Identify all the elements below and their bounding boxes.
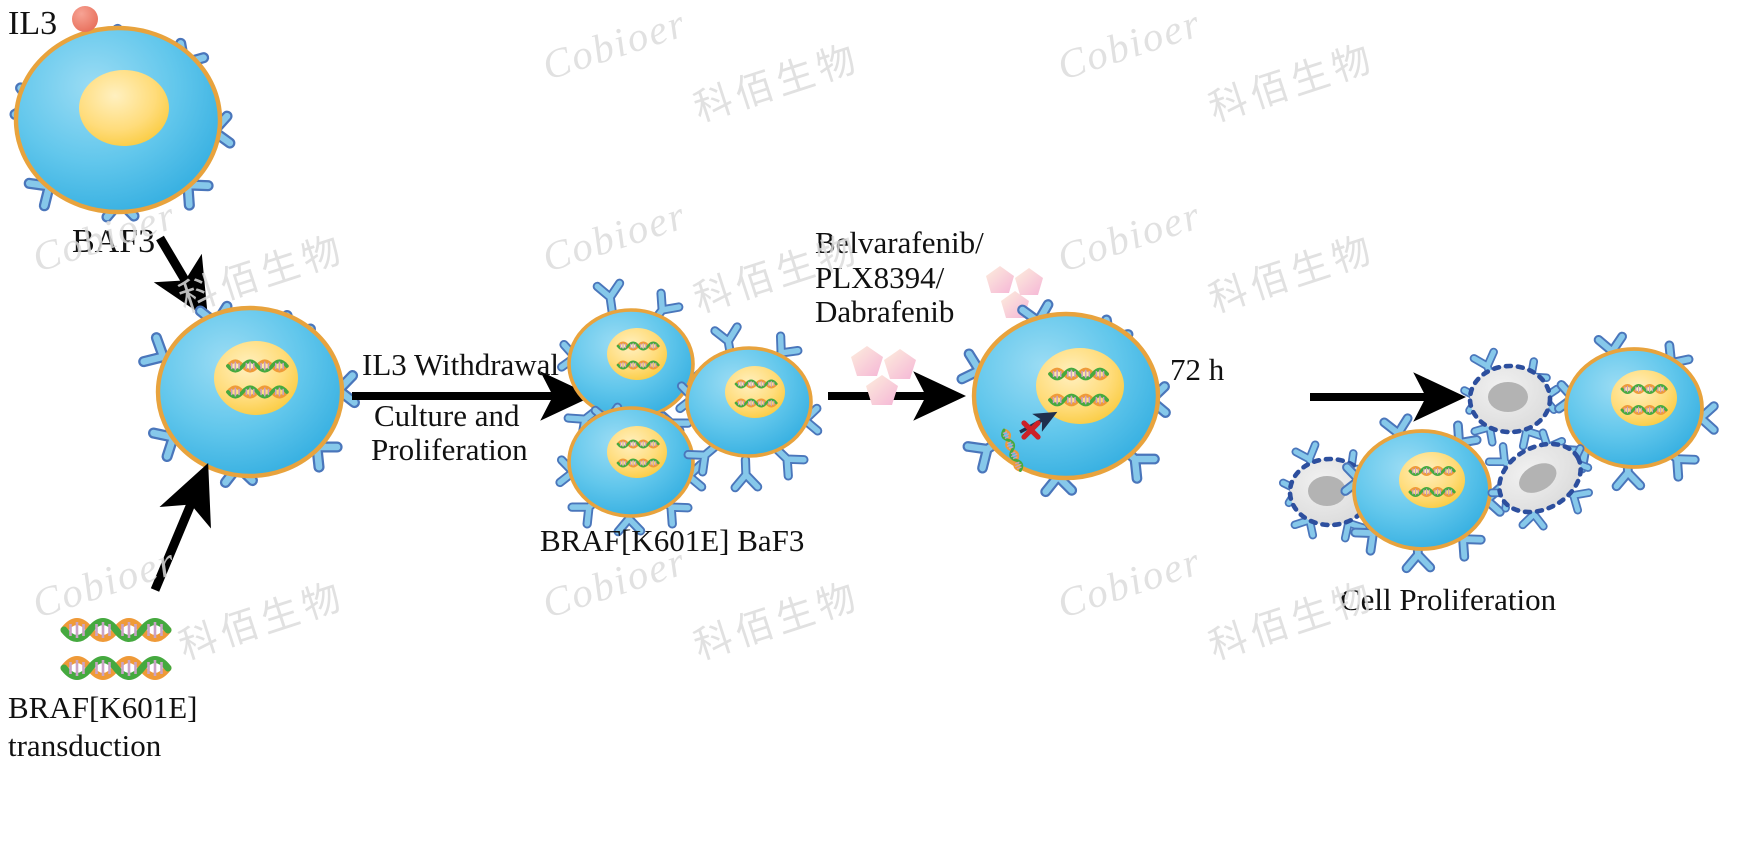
cell-nucleus [1399, 452, 1465, 508]
label-braf-transduction-line1: BRAF[K601E] [8, 688, 197, 728]
cell-nucleus [607, 426, 667, 478]
workflow-illustration [0, 0, 1763, 848]
cell-nucleus [1036, 348, 1124, 424]
label-braf-baf3: BRAF[K601E] BaF3 [540, 521, 804, 561]
arrow-baf3-to-transduced [160, 238, 192, 292]
braf-plasmid-dna [64, 622, 168, 677]
label-il3: IL3 [8, 2, 57, 46]
outcome-cell-group [1283, 337, 1714, 569]
figure-canvas: IL3 BAF3 BRAF[K601E] transduction IL3 Wi… [0, 0, 1763, 848]
cell-braf-transduced [144, 306, 355, 482]
label-il3-withdrawal: IL3 Withdrawal [362, 345, 559, 385]
cell-drug-treated [962, 305, 1166, 492]
cell-baf3-parental [15, 28, 230, 217]
label-72h: 72 h [1170, 350, 1224, 390]
label-drug-line1: Belvarafenib/ [815, 223, 984, 263]
arrow-dna-transduction [155, 492, 196, 590]
cell-cluster-braf-baf3 [560, 283, 818, 531]
label-cell-proliferation: Cell Proliferation [1340, 580, 1556, 620]
cell-nucleus [79, 70, 169, 146]
drug-molecule-cluster-upper [986, 266, 1043, 318]
label-baf3: BAF3 [72, 220, 155, 264]
il3-ligand-dot [72, 6, 98, 32]
label-braf-transduction-line2: transduction [8, 726, 161, 766]
dead-cell-nucleus [1308, 476, 1346, 506]
cell-nucleus [607, 328, 667, 380]
cell-nucleus [214, 341, 298, 415]
cell-nucleus [1611, 370, 1677, 426]
dead-cell-nucleus [1488, 382, 1528, 412]
cell-nucleus [725, 366, 785, 418]
label-culture-line2: Proliferation [371, 430, 528, 470]
live-cell-2 [1345, 418, 1500, 568]
cell-braf-baf3-3 [680, 327, 818, 488]
label-drug-line3: Dabrafenib [815, 292, 954, 332]
